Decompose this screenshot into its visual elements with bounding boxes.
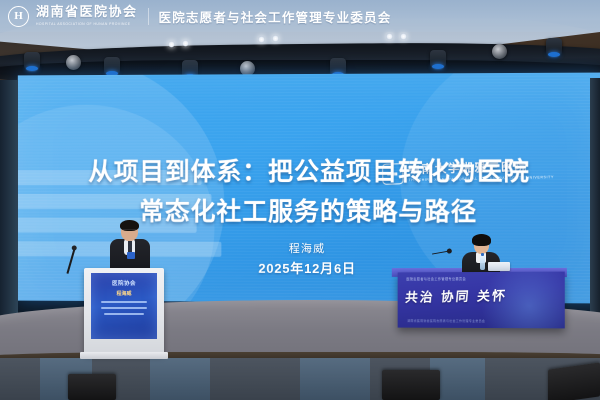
- association-name-en: HOSPITAL ASSOCIATION OF HUNAN PROVINCE: [36, 22, 138, 26]
- table-banner-text: 共治 协同 关怀: [405, 285, 508, 306]
- ceiling-lamp-icon: [182, 40, 189, 47]
- stage-spotlight-icon: [24, 52, 40, 72]
- association-logo-icon: H: [8, 6, 29, 27]
- association-logo-glyph: H: [14, 11, 23, 22]
- stage-monitor-speaker: [382, 370, 440, 400]
- speaker-at-podium: [108, 222, 152, 274]
- association-name-cn: 湖南省医院协会: [36, 6, 138, 20]
- stage-spotlight-icon: [66, 55, 81, 70]
- table-banner-subtitle: 医院志愿者与社会工作管理专业委员会: [406, 276, 466, 281]
- slide-title-line1: 从项目到体系：把公益项目转化为医院: [18, 152, 600, 188]
- table-name-card: [488, 262, 510, 271]
- table-banner-footer: 湖南省医院协会医院志愿者与社会工作管理专业委员会: [407, 319, 485, 323]
- slide-title-line2: 常态化社工服务的策略与路径: [18, 192, 600, 229]
- water-bottle: [480, 256, 485, 270]
- ceiling-lamp-icon: [272, 35, 279, 42]
- stage-spotlight-icon: [546, 38, 562, 58]
- podium-base: [80, 352, 168, 359]
- slide-presenter-name: 程海威: [18, 239, 600, 257]
- badge-lanyard: [127, 252, 135, 259]
- stage-spotlight-icon: [430, 50, 446, 70]
- ceiling-lamp-icon: [258, 36, 265, 43]
- conference-photo: 中南大学湘雅三医院 THE THIRD XIANGYA HOSPITAL OF …: [0, 0, 600, 400]
- panel-table-banner: 医院志愿者与社会工作管理专业委员会 共治 协同 关怀 湖南省医院协会医院志愿者与…: [398, 272, 565, 329]
- header-overlay: H 湖南省医院协会 HOSPITAL ASSOCIATION OF HUNAN …: [0, 0, 600, 32]
- ceiling-lamp-icon: [168, 41, 175, 48]
- stage-monitor-speaker: [68, 374, 116, 400]
- ceiling-lamp-icon: [400, 33, 407, 40]
- committee-name: 医院志愿者与社会工作管理专业委员会: [159, 7, 392, 26]
- podium-panel-title: 医院协会: [91, 279, 157, 287]
- podium-panel-name: 程海威: [91, 290, 157, 297]
- stage-spotlight-icon: [492, 44, 507, 59]
- podium-front-panel: 医院协会 程海威: [91, 273, 157, 339]
- speaker-podium: 医院协会 程海威: [84, 268, 164, 354]
- ceiling-lamp-icon: [386, 33, 393, 40]
- wall-right: [590, 78, 600, 313]
- stage-monitor-speaker: [548, 362, 600, 400]
- front-pit: [0, 358, 600, 400]
- wall-left: [0, 80, 18, 320]
- association-name-block: 湖南省医院协会 HOSPITAL ASSOCIATION OF HUNAN PR…: [36, 6, 138, 25]
- header-divider: [148, 8, 149, 25]
